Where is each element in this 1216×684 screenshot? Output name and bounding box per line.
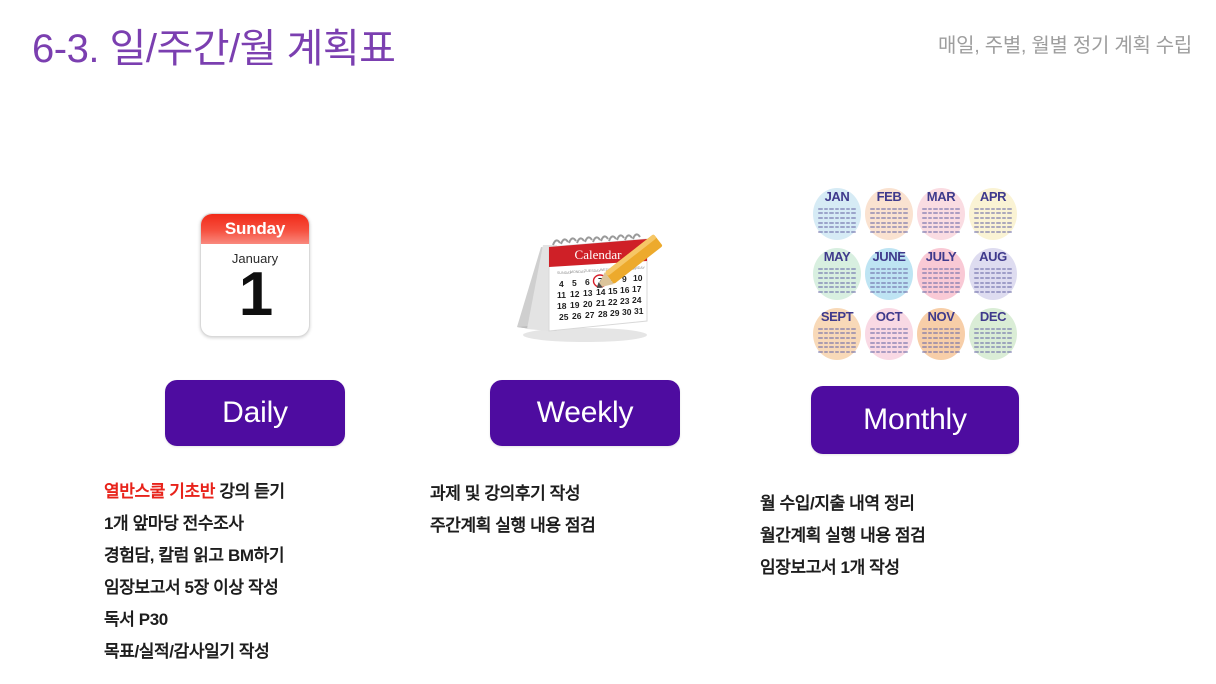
month-mini-grid (974, 267, 1012, 294)
svg-text:29: 29 (610, 308, 620, 318)
month-mini-grid (870, 207, 908, 234)
svg-text:20: 20 (583, 299, 593, 309)
month-mini-grid (818, 327, 856, 354)
svg-text:22: 22 (608, 297, 618, 307)
twelve-months-icon: JAN FEB MAR APR MAY JUNE JULY AUG SEPT O… (812, 186, 1018, 364)
list-item: 임장보고서 5장 이상 작성 (104, 572, 420, 604)
svg-text:27: 27 (585, 310, 595, 320)
month-label: APR (968, 189, 1018, 204)
month-label: AUG (968, 249, 1018, 264)
task-text: 임장보고서 5장 이상 작성 (104, 578, 278, 597)
task-text: 목표/실적/감사일기 작성 (104, 642, 269, 661)
task-text: 독서 P30 (104, 610, 168, 629)
daily-icon-area: Sunday January 1 (90, 180, 420, 370)
daily-label-button[interactable]: Daily (165, 380, 345, 446)
day-calendar-weekday: Sunday (201, 214, 309, 244)
monthly-icon-area: JAN FEB MAR APR MAY JUNE JULY AUG SEPT O… (750, 180, 1080, 370)
svg-text:28: 28 (598, 309, 608, 319)
svg-text:14: 14 (596, 287, 606, 297)
task-text: 과제 및 강의후기 작성 (430, 484, 580, 503)
task-text: 월간계획 실행 내용 점검 (760, 526, 925, 545)
plan-column-monthly: JAN FEB MAR APR MAY JUNE JULY AUG SEPT O… (750, 180, 1080, 600)
month-mini-grid (974, 207, 1012, 234)
month-cell: FEB (864, 186, 914, 244)
list-item: 독서 P30 (104, 604, 420, 636)
month-cell: APR (968, 186, 1018, 244)
month-cell: NOV (916, 306, 966, 364)
svg-text:11: 11 (557, 290, 566, 300)
day-calendar-icon: Sunday January 1 (200, 213, 310, 337)
weekly-icon-area: Calendar SUNDAYMONDAY (420, 180, 750, 370)
day-calendar-day-number: 1 (201, 264, 309, 326)
svg-text:13: 13 (583, 288, 593, 298)
month-cell: MAY (812, 246, 862, 304)
month-cell: JUNE (864, 246, 914, 304)
month-mini-grid (870, 327, 908, 354)
month-mini-grid (922, 267, 960, 294)
month-mini-grid (974, 327, 1012, 354)
svg-text:16: 16 (620, 285, 630, 295)
weekly-task-list: 과제 및 강의후기 작성 주간계획 실행 내용 점검 (430, 478, 750, 542)
month-label: JUNE (864, 249, 914, 264)
month-label: MAY (812, 249, 862, 264)
month-label: JULY (916, 249, 966, 264)
monthly-label-button[interactable]: Monthly (811, 386, 1019, 454)
month-mini-grid (818, 267, 856, 294)
svg-text:5: 5 (572, 278, 577, 288)
svg-text:12: 12 (570, 289, 580, 299)
task-text: 임장보고서 1개 작성 (760, 558, 900, 577)
month-label: NOV (916, 309, 966, 324)
list-item: 월 수입/지출 내역 정리 (760, 488, 1080, 520)
svg-text:21: 21 (596, 298, 606, 308)
month-cell: JULY (916, 246, 966, 304)
month-cell: JAN (812, 186, 862, 244)
month-label: MAR (916, 189, 966, 204)
daily-task-list: 열반스쿨 기초반 강의 듣기 1개 앞마당 전수조사 경험담, 칼럼 읽고 BM… (104, 476, 420, 668)
monthly-task-list: 월 수입/지출 내역 정리 월간계획 실행 내용 점검 임장보고서 1개 작성 (760, 488, 1080, 584)
svg-text:18: 18 (557, 301, 567, 311)
svg-text:25: 25 (559, 312, 569, 322)
list-item: 경험담, 칼럼 읽고 BM하기 (104, 540, 420, 572)
weekly-label-button[interactable]: Weekly (490, 380, 680, 446)
svg-text:4: 4 (559, 279, 564, 289)
list-item: 열반스쿨 기초반 강의 듣기 (104, 476, 420, 508)
list-item: 주간계획 실행 내용 점검 (430, 510, 750, 542)
month-mini-grid (922, 327, 960, 354)
month-label: SEPT (812, 309, 862, 324)
svg-text:31: 31 (634, 306, 644, 316)
svg-text:26: 26 (572, 311, 582, 321)
plan-columns: Sunday January 1 Daily 열반스쿨 기초반 강의 듣기 1개… (0, 0, 1216, 684)
month-label: OCT (864, 309, 914, 324)
task-text: 1개 앞마당 전수조사 (104, 514, 244, 533)
month-cell: SEPT (812, 306, 862, 364)
month-cell: AUG (968, 246, 1018, 304)
list-item: 목표/실적/감사일기 작성 (104, 636, 420, 668)
svg-text:30: 30 (622, 307, 632, 317)
month-mini-grid (922, 207, 960, 234)
month-cell: OCT (864, 306, 914, 364)
list-item: 과제 및 강의후기 작성 (430, 478, 750, 510)
list-item: 임장보고서 1개 작성 (760, 552, 1080, 584)
month-mini-grid (870, 267, 908, 294)
svg-text:Calendar: Calendar (575, 247, 623, 262)
plan-column-weekly: Calendar SUNDAYMONDAY (420, 180, 750, 558)
list-item: 월간계획 실행 내용 점검 (760, 520, 1080, 552)
task-text: 주간계획 실행 내용 점검 (430, 516, 595, 535)
task-text: 강의 듣기 (215, 482, 285, 501)
desk-calendar-pencil-icon: Calendar SUNDAYMONDAY (497, 205, 673, 345)
month-label: DEC (968, 309, 1018, 324)
month-label: FEB (864, 189, 914, 204)
list-item: 1개 앞마당 전수조사 (104, 508, 420, 540)
month-cell: MAR (916, 186, 966, 244)
task-text: 경험담, 칼럼 읽고 BM하기 (104, 546, 284, 565)
month-cell: DEC (968, 306, 1018, 364)
svg-text:6: 6 (585, 277, 590, 287)
month-mini-grid (818, 207, 856, 234)
svg-text:15: 15 (608, 286, 618, 296)
svg-text:TUESDAY: TUESDAY (584, 269, 601, 273)
svg-text:24: 24 (632, 295, 642, 305)
month-label: JAN (812, 189, 862, 204)
task-highlight: 열반스쿨 기초반 (104, 482, 215, 501)
svg-text:17: 17 (632, 284, 642, 294)
svg-text:23: 23 (620, 296, 630, 306)
task-text: 월 수입/지출 내역 정리 (760, 494, 914, 513)
plan-column-daily: Sunday January 1 Daily 열반스쿨 기초반 강의 듣기 1개… (90, 180, 420, 684)
svg-text:19: 19 (570, 300, 580, 310)
svg-text:10: 10 (633, 273, 643, 283)
